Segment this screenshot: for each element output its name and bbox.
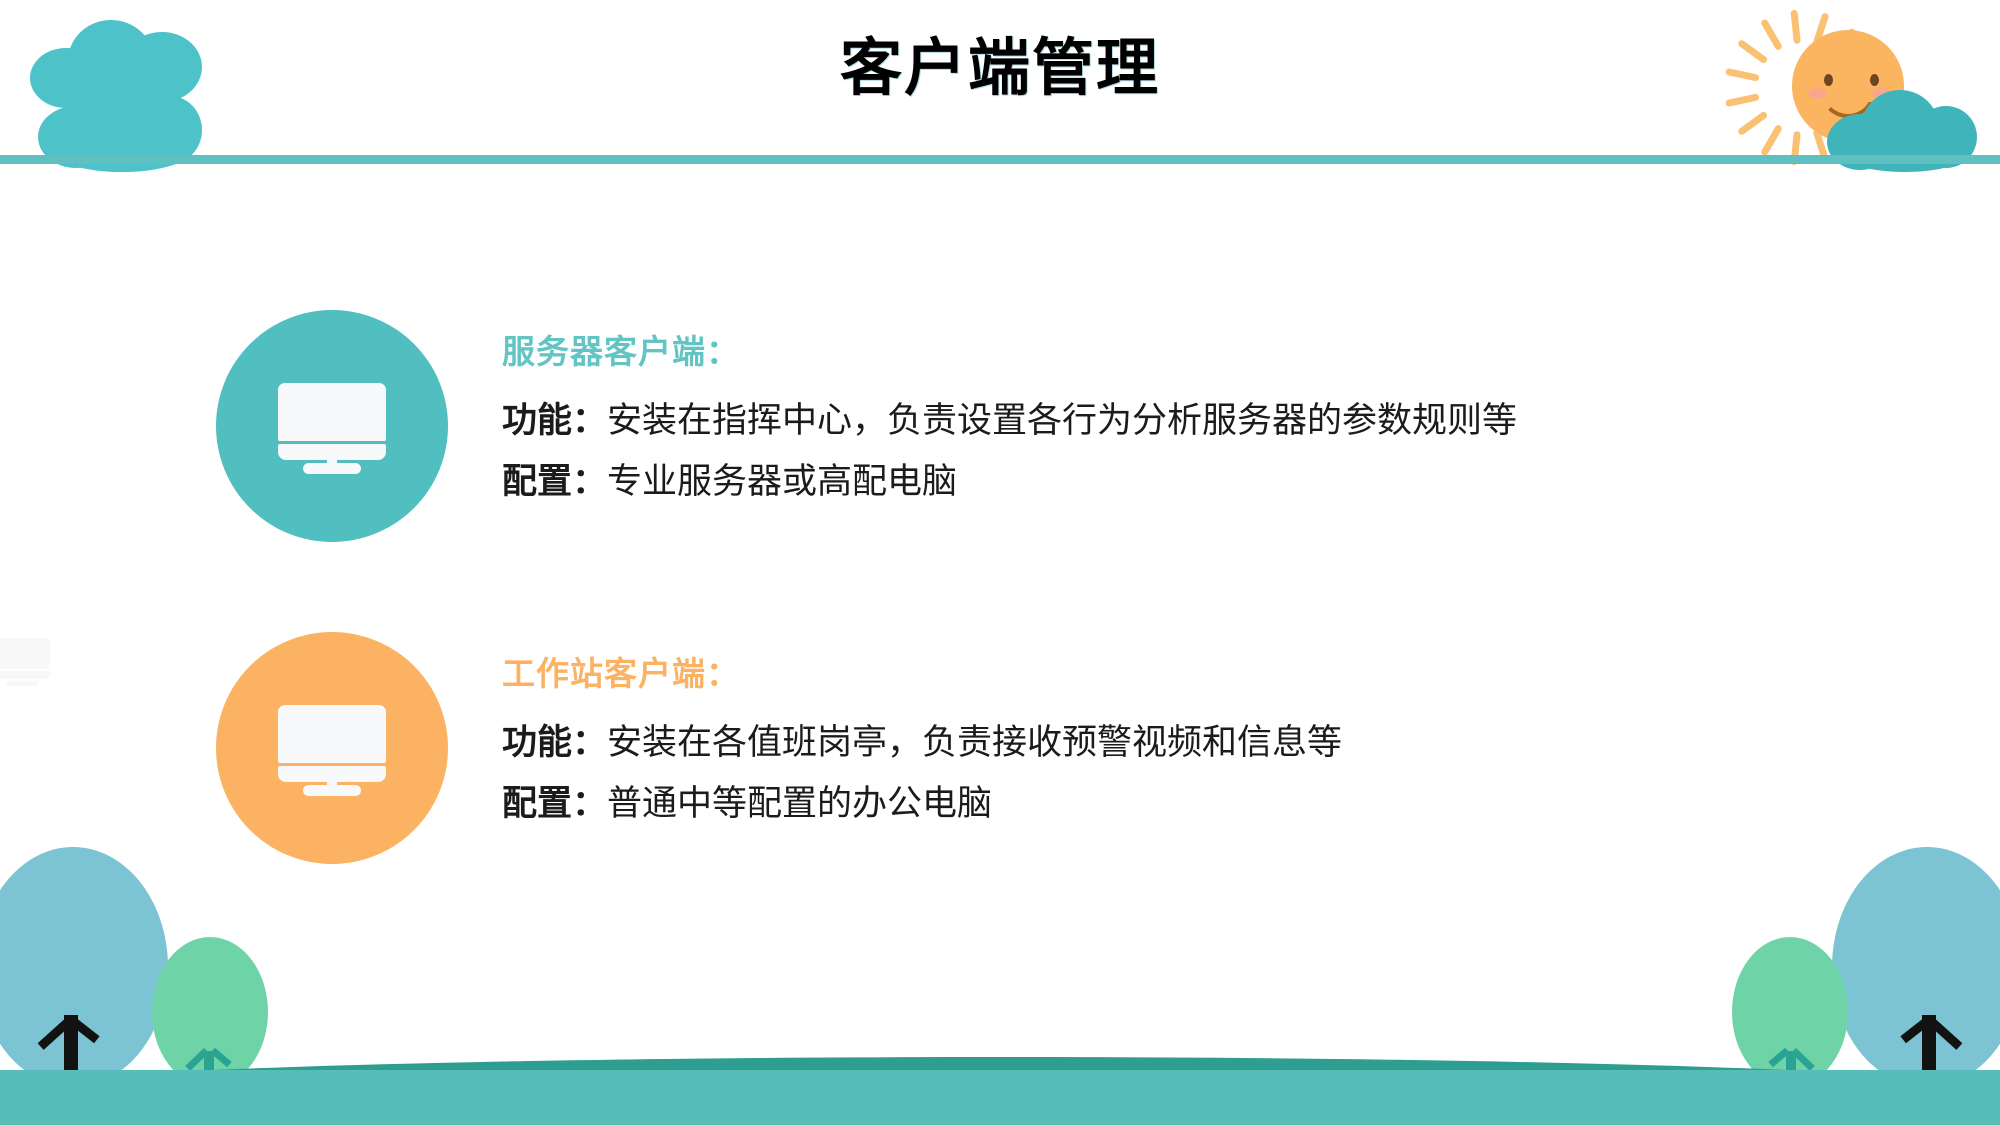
workstation-client-heading: 工作站客户端： <box>502 656 1342 692</box>
content-block-server-client: 服务器客户端： 功能：安装在指挥中心，负责设置各行为分析服务器的参数规则等 配置… <box>0 310 2000 542</box>
function-label: 功能： <box>502 401 607 440</box>
config-value: 专业服务器或高配电脑 <box>607 462 957 501</box>
content-block-workstation-client: 工作站客户端： 功能：安装在各值班岗亭，负责接收预警视频和信息等 配置：普通中等… <box>0 632 2000 864</box>
function-label: 功能： <box>502 723 607 762</box>
sun-icon <box>1732 2 1982 174</box>
server-client-heading: 服务器客户端： <box>502 334 1517 370</box>
function-value: 安装在指挥中心，负责设置各行为分析服务器的参数规则等 <box>607 401 1517 440</box>
server-client-config-line: 配置：专业服务器或高配电脑 <box>502 457 1517 508</box>
config-label: 配置： <box>502 462 607 501</box>
function-value: 安装在各值班岗亭，负责接收预警视频和信息等 <box>607 723 1342 762</box>
monitor-icon <box>216 632 448 864</box>
slide-body: 服务器客户端： 功能：安装在指挥中心，负责设置各行为分析服务器的参数规则等 配置… <box>0 185 2000 864</box>
config-value: 普通中等配置的办公电脑 <box>607 784 992 823</box>
config-label: 配置： <box>502 784 607 823</box>
ground-band <box>0 1070 2000 1125</box>
header-divider <box>0 155 2000 164</box>
workstation-client-text: 工作站客户端： 功能：安装在各值班岗亭，负责接收预警视频和信息等 配置：普通中等… <box>502 632 1342 840</box>
workstation-client-function-line: 功能：安装在各值班岗亭，负责接收预警视频和信息等 <box>502 718 1342 769</box>
server-client-text: 服务器客户端： 功能：安装在指挥中心，负责设置各行为分析服务器的参数规则等 配置… <box>502 310 1517 518</box>
slide-header: 客户端管理 <box>0 0 2000 165</box>
page-title: 客户端管理 <box>0 30 2000 108</box>
workstation-client-config-line: 配置：普通中等配置的办公电脑 <box>502 779 1342 830</box>
server-client-function-line: 功能：安装在指挥中心，负责设置各行为分析服务器的参数规则等 <box>502 396 1517 447</box>
slide-canvas: 客户端管理 <box>0 0 2000 1125</box>
monitor-icon <box>216 310 448 542</box>
